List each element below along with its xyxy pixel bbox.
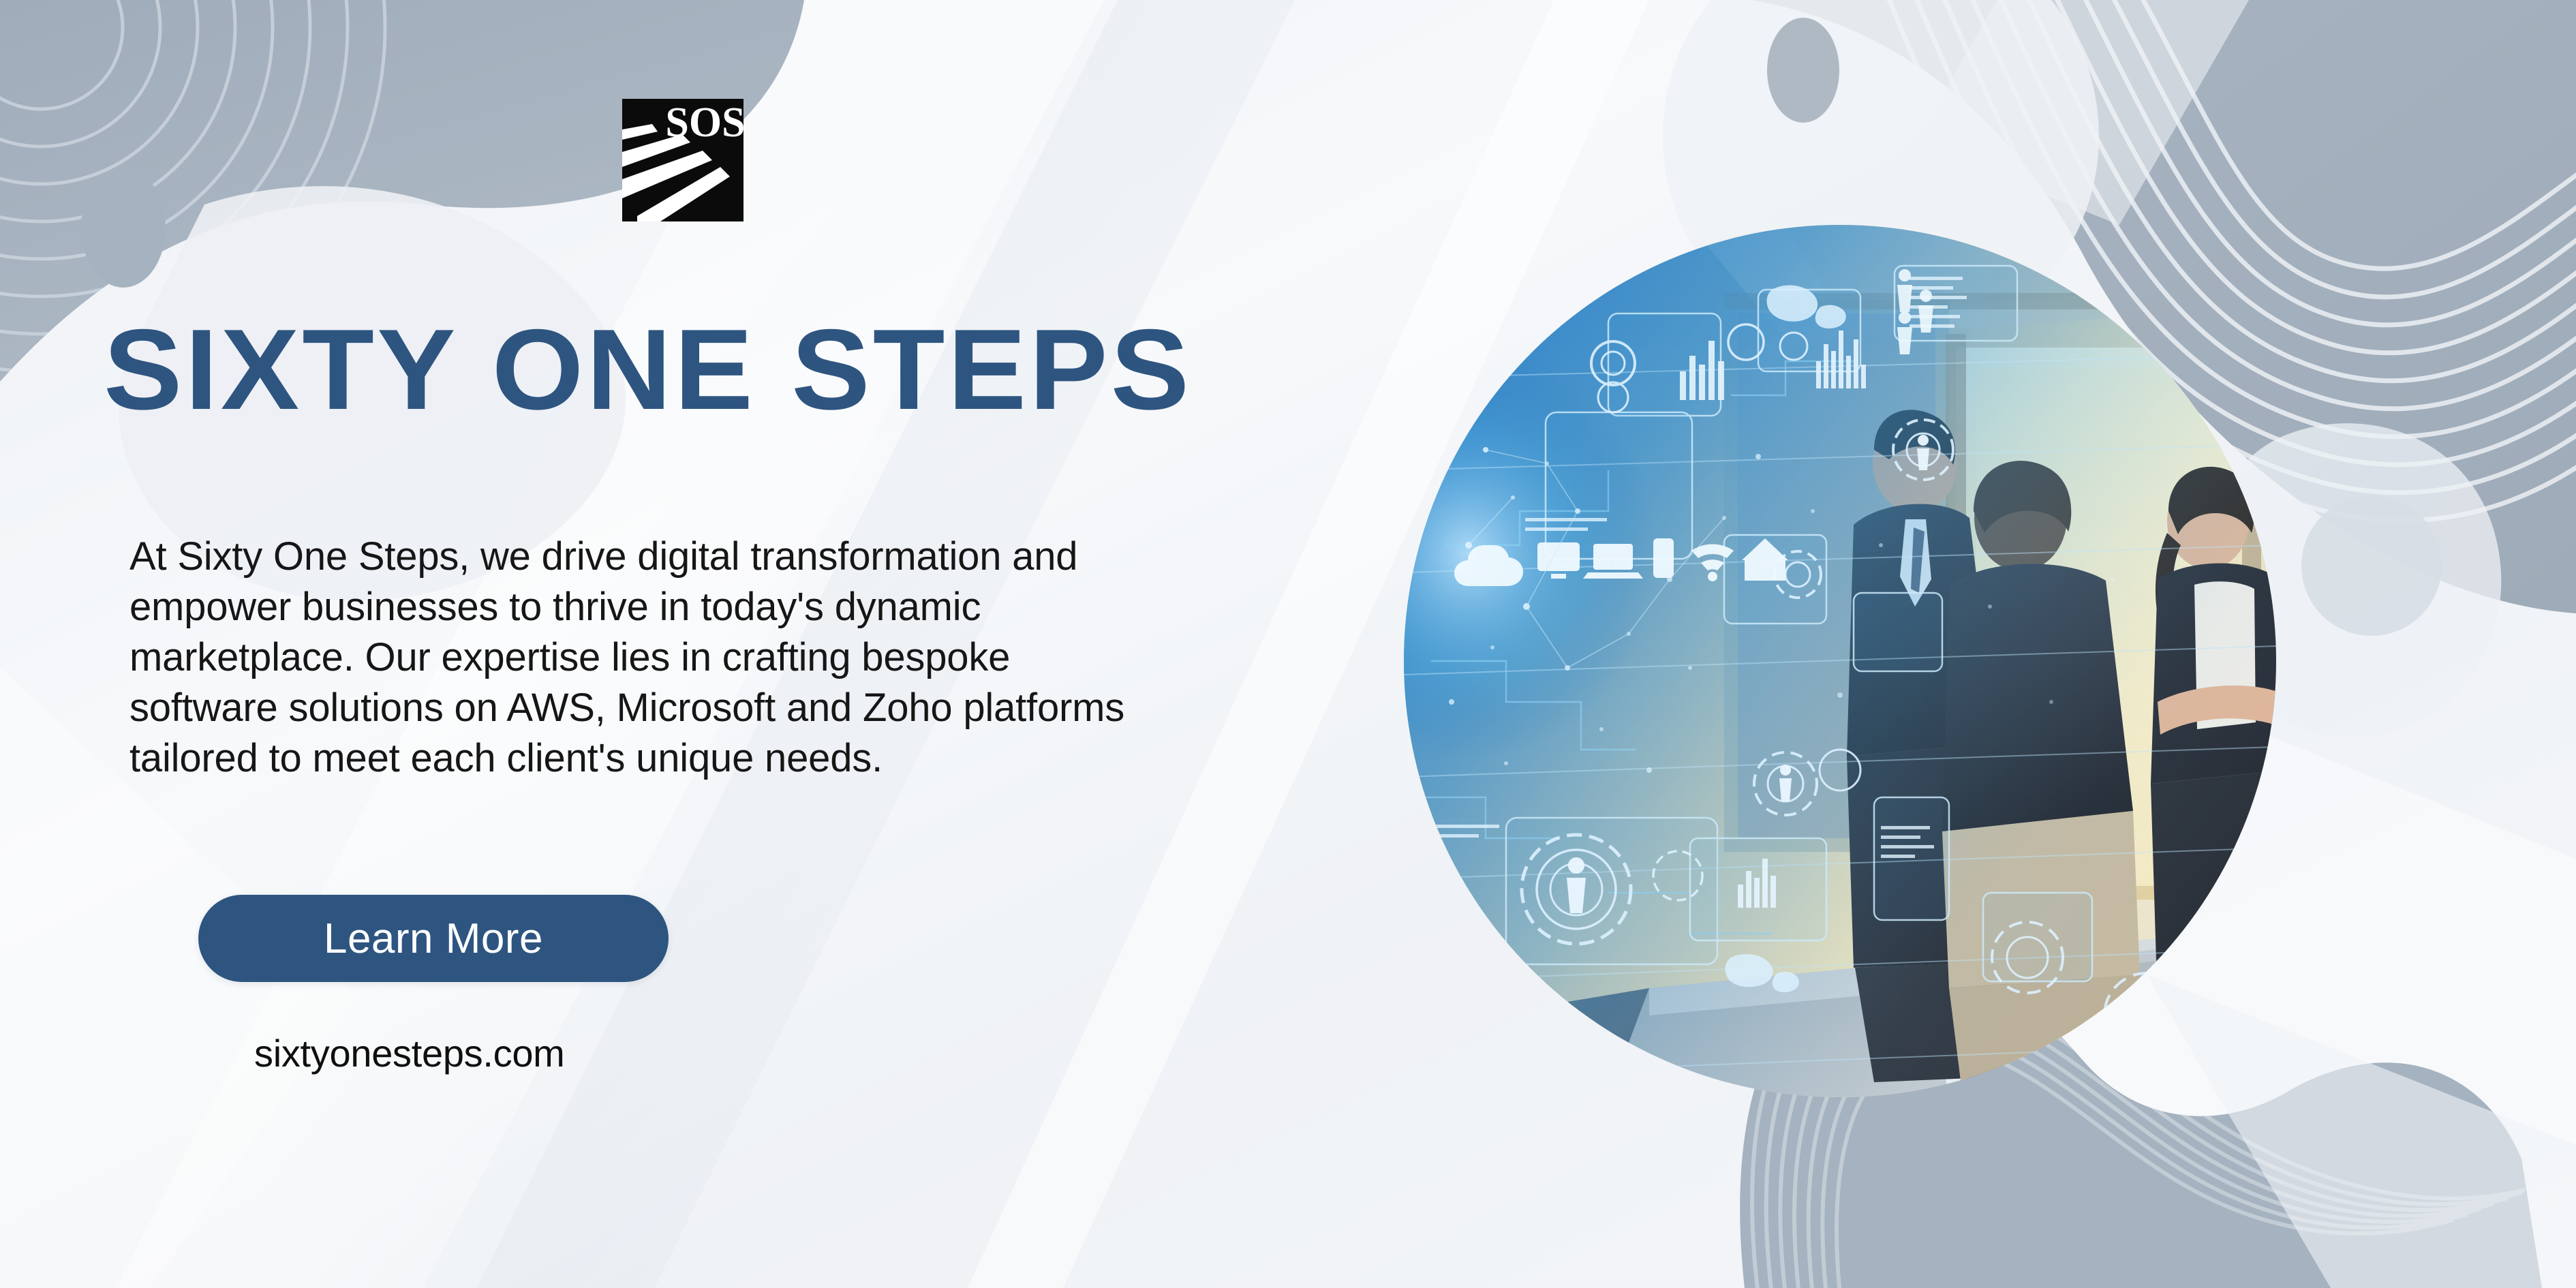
paragraph-line-4: software solutions on AWS, Microsoft and…	[129, 683, 1274, 733]
paragraph-line-1: At Sixty One Steps, we drive digital tra…	[129, 532, 1274, 582]
paragraph-line-5: tailored to meet each client's unique ne…	[129, 733, 1274, 784]
page-title: SIXTY ONE STEPS	[104, 312, 1507, 427]
paragraph-line-3: marketplace. Our expertise lies in craft…	[129, 632, 1274, 683]
paragraph-line-2: empower businesses to thrive in today's …	[129, 582, 1274, 632]
learn-more-button[interactable]: Learn More	[198, 895, 669, 982]
logo-text: SOS	[665, 99, 743, 146]
sos-logo[interactable]: SOS	[622, 99, 743, 221]
marketing-banner: SOS SIXTY ONE STEPS At Sixty One Steps, …	[0, 0, 2576, 1288]
website-url[interactable]: sixtyonesteps.com	[254, 1031, 565, 1075]
intro-paragraph: At Sixty One Steps, we drive digital tra…	[129, 532, 1274, 784]
